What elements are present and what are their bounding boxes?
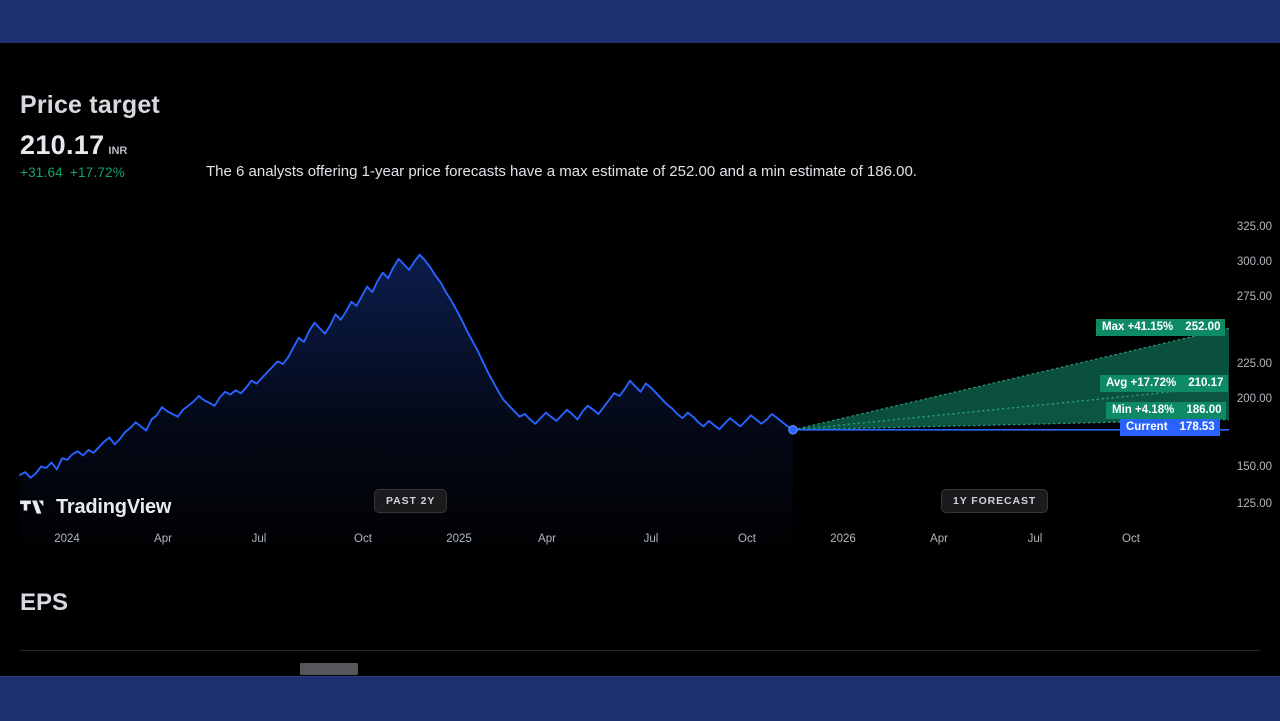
forecast-min-pill: Min +4.18% 186.00 bbox=[1106, 402, 1226, 419]
section-divider bbox=[20, 650, 1260, 651]
x-axis-tick-apr-2024: Apr bbox=[154, 533, 172, 545]
y-axis-tick-125: 125.00 bbox=[1237, 498, 1272, 510]
x-axis-tick-2024: 2024 bbox=[54, 533, 80, 545]
y-axis-tick-275: 275.00 bbox=[1237, 291, 1272, 303]
forecast-max-value: 252.00 bbox=[1179, 319, 1225, 336]
current-price-value: 178.53 bbox=[1174, 419, 1220, 436]
eps-section-title: EPS bbox=[20, 589, 68, 617]
x-axis-tick-apr-2026: Apr bbox=[930, 533, 948, 545]
horizontal-scrollbar-thumb[interactable] bbox=[300, 663, 358, 675]
forecast-min-value: 186.00 bbox=[1180, 402, 1226, 419]
y-axis-tick-225: 225.00 bbox=[1237, 358, 1272, 370]
forecast-min-label: Min +4.18% bbox=[1106, 402, 1180, 419]
bottom-blue-band bbox=[0, 676, 1280, 721]
y-axis-tick-150: 150.00 bbox=[1237, 461, 1272, 473]
tradingview-logo: TradingView bbox=[20, 496, 171, 519]
forecast-avg-value: 210.17 bbox=[1182, 375, 1228, 392]
tradingview-wordmark: TradingView bbox=[56, 496, 171, 519]
current-price-label: Current bbox=[1120, 419, 1174, 436]
x-axis-tick-apr-2025: Apr bbox=[538, 533, 556, 545]
past-range-chip[interactable]: PAST 2Y bbox=[374, 489, 447, 513]
forecast-max-label: Max +41.15% bbox=[1096, 319, 1179, 336]
x-axis-tick-oct-2026: Oct bbox=[1122, 533, 1140, 545]
x-axis-tick-jul-2025: Jul bbox=[644, 533, 659, 545]
x-axis-tick-jul-2026: Jul bbox=[1028, 533, 1043, 545]
x-axis-tick-2025: 2025 bbox=[446, 533, 472, 545]
top-blue-band bbox=[0, 0, 1280, 44]
main-content-area: Price target 210.17 INR +31.64+17.72% Th… bbox=[0, 43, 1280, 676]
x-axis-tick-2026: 2026 bbox=[830, 533, 856, 545]
tradingview-logo-icon bbox=[20, 499, 48, 516]
current-price-marker bbox=[789, 426, 797, 434]
price-chart-plot bbox=[0, 43, 1280, 676]
forecast-avg-label: Avg +17.72% bbox=[1100, 375, 1182, 392]
forecast-max-pill: Max +41.15% 252.00 bbox=[1096, 319, 1225, 336]
current-price-pill: Current 178.53 bbox=[1120, 419, 1220, 436]
forecast-avg-pill: Avg +17.72% 210.17 bbox=[1100, 375, 1228, 392]
x-axis-tick-oct-2025: Oct bbox=[738, 533, 756, 545]
y-axis-tick-200: 200.00 bbox=[1237, 393, 1272, 405]
x-axis-tick-jul-2024: Jul bbox=[252, 533, 267, 545]
y-axis-tick-325: 325.00 bbox=[1237, 221, 1272, 233]
x-axis-tick-oct-2024: Oct bbox=[354, 533, 372, 545]
forecast-range-chip[interactable]: 1Y FORECAST bbox=[941, 489, 1048, 513]
y-axis-tick-300: 300.00 bbox=[1237, 256, 1272, 268]
tradingview-price-target-widget: Price target 210.17 INR +31.64+17.72% Th… bbox=[0, 0, 1280, 720]
